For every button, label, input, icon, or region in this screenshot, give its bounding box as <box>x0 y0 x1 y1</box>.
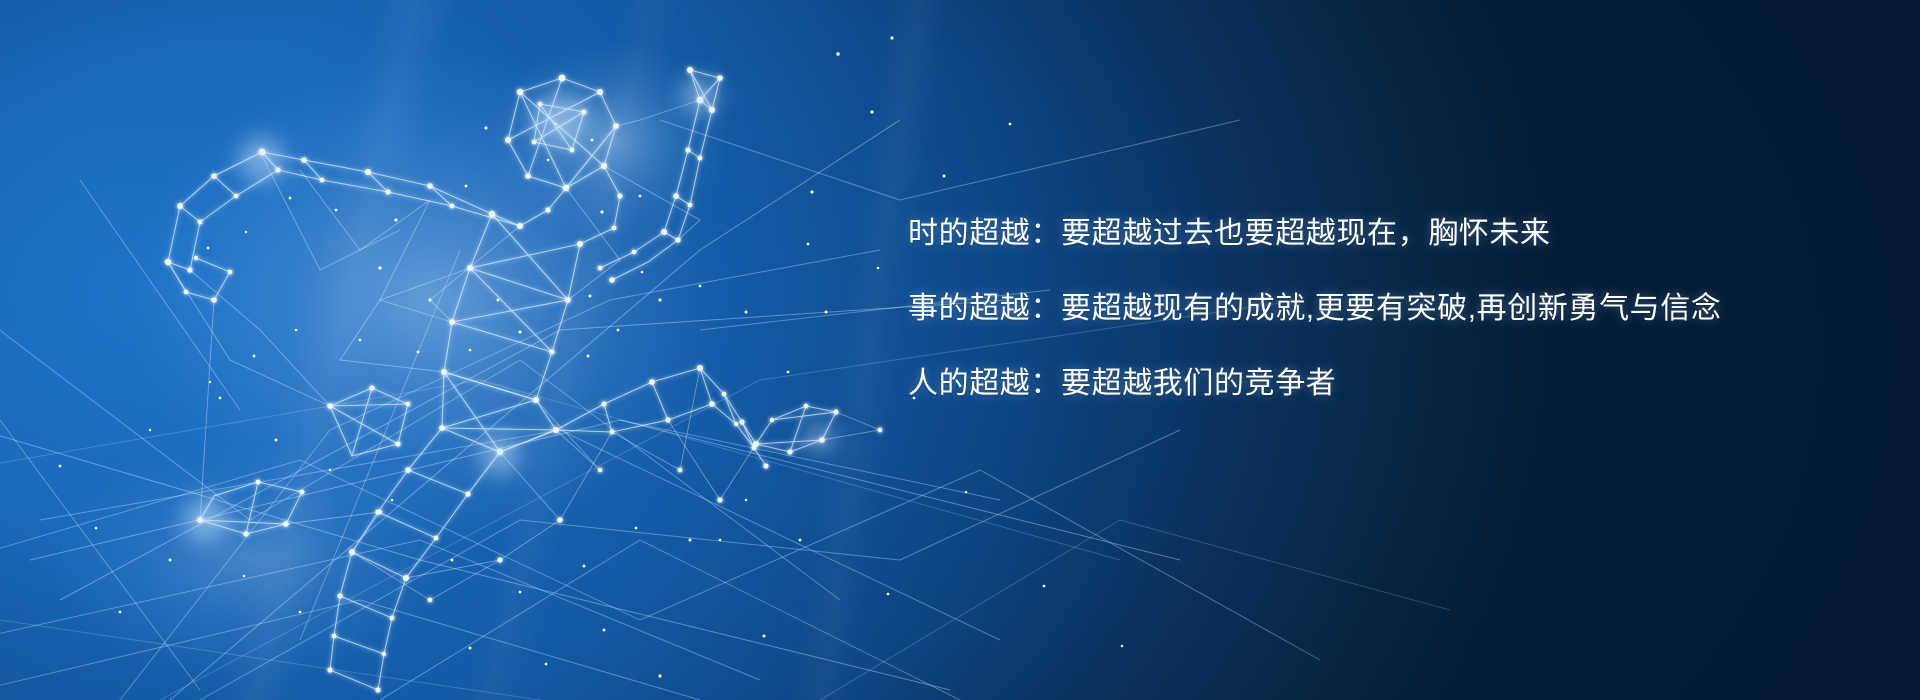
hero-banner: 时的超越：要超越过去也要超越现在，胸怀未来 事的超越：要超越现有的成就,更要有突… <box>0 0 1920 700</box>
tagline-line-2: 事的超越：要超越现有的成就,更要有突破,再创新勇气与信念 <box>908 271 1868 346</box>
tagline-line-1: 时的超越：要超越过去也要超越现在，胸怀未来 <box>908 196 1868 271</box>
tagline-block: 时的超越：要超越过去也要超越现在，胸怀未来 事的超越：要超越现有的成就,更要有突… <box>908 196 1868 421</box>
tagline-line-3: 人的超越：要超越我们的竞争者 <box>908 346 1868 421</box>
